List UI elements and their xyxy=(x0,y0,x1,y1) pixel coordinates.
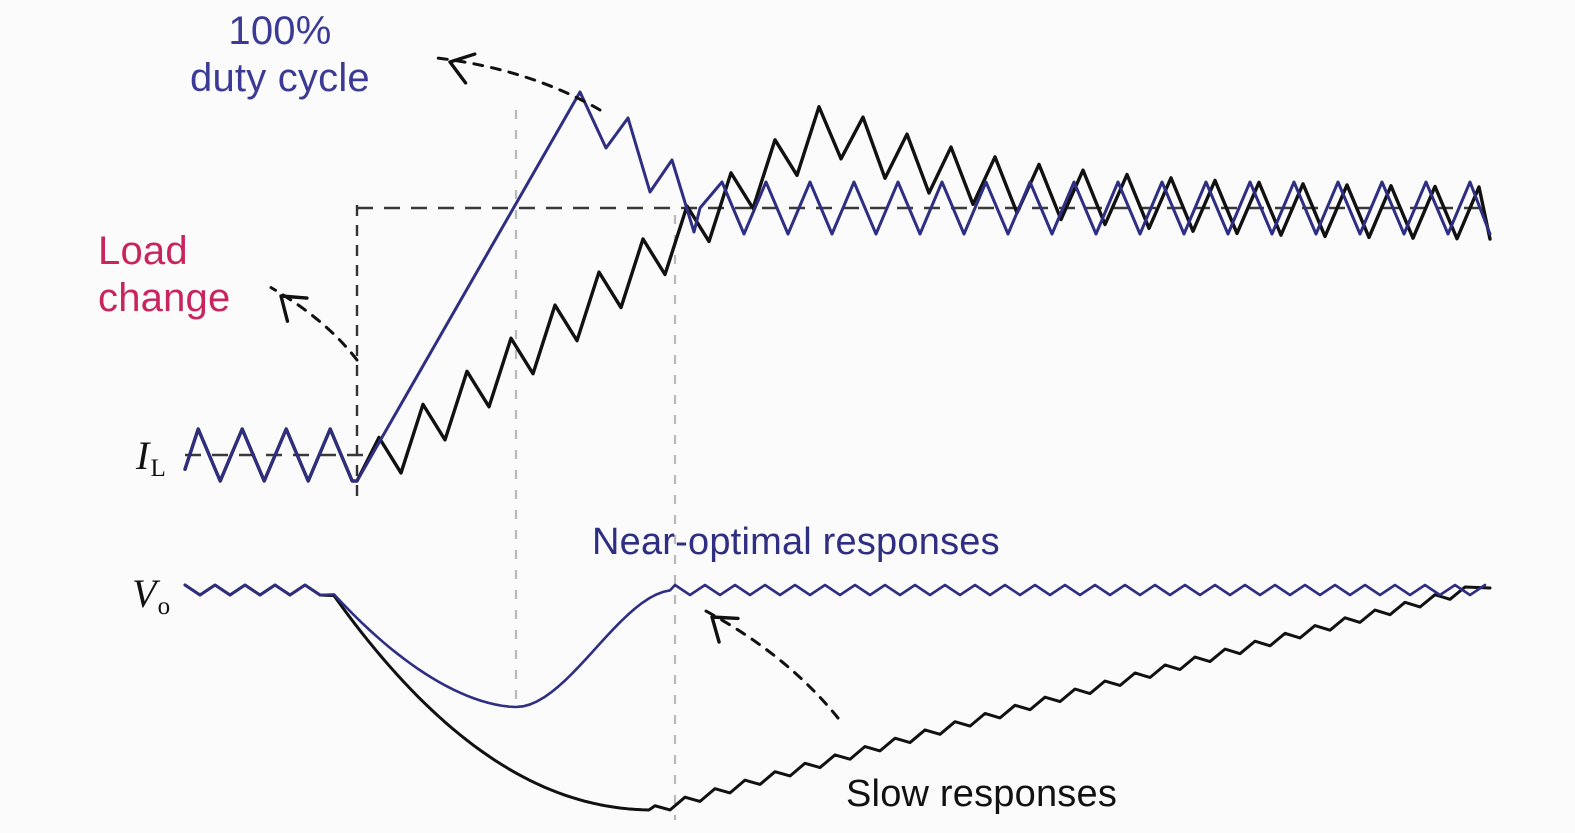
near-optimal-pointer-leader xyxy=(702,609,838,718)
current-axis-label: IL xyxy=(136,432,166,484)
load-change-line1: Load xyxy=(98,228,230,275)
voltage-subscript: o xyxy=(158,593,171,620)
voltage-trace-near-optimal xyxy=(185,585,1485,707)
load-change-annotation: Load change xyxy=(98,228,230,322)
voltage-axis-label: Vo xyxy=(132,570,170,622)
near-optimal-annotation: Near-optimal responses xyxy=(592,520,1000,565)
voltage-symbol: V xyxy=(132,571,157,616)
load-change-line2: change xyxy=(98,275,230,322)
duty-cycle-pointer-head xyxy=(450,54,475,83)
slow-responses-annotation: Slow responses xyxy=(846,772,1117,817)
duty-cycle-line2: duty cycle xyxy=(190,55,370,102)
waveform-figure: 100% duty cycle Load change Near-optimal… xyxy=(0,0,1575,833)
duty-cycle-annotation: 100% duty cycle xyxy=(190,8,370,102)
current-symbol: I xyxy=(136,433,150,478)
waveform-canvas xyxy=(0,0,1575,833)
duty-cycle-line1: 100% xyxy=(190,8,370,55)
voltage-trace-slow xyxy=(185,585,1490,810)
current-subscript: L xyxy=(151,455,166,482)
current-trace-slow xyxy=(185,107,1490,481)
load-change-pointer-leader xyxy=(271,288,357,360)
